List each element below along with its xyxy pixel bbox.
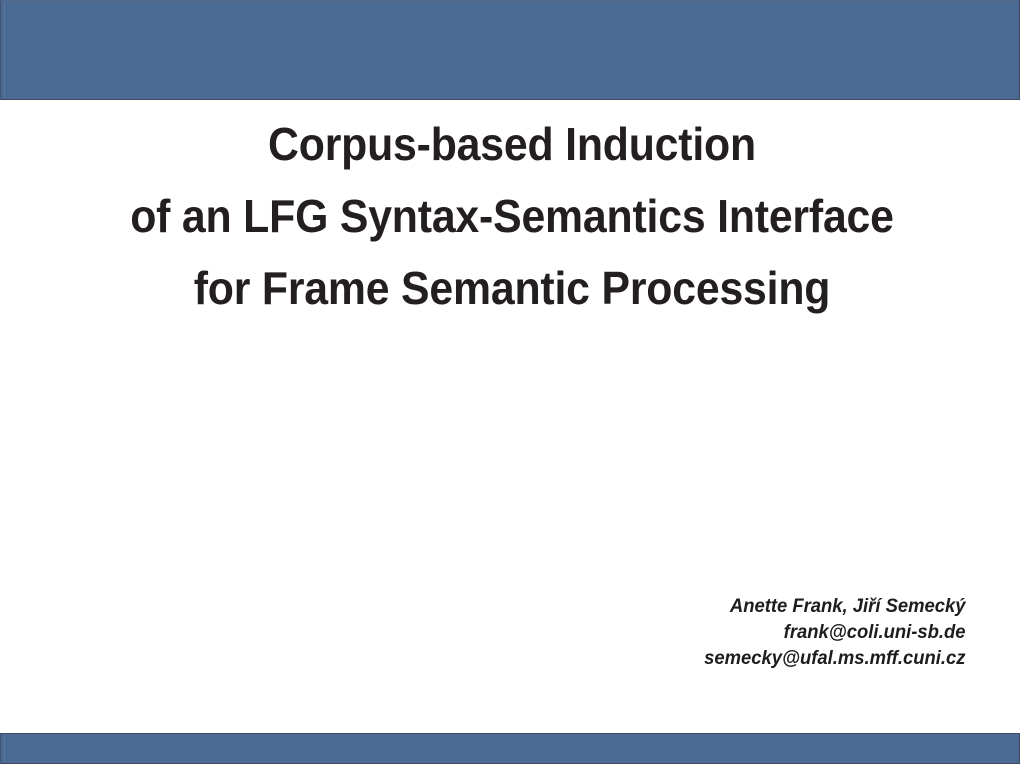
title-line-2: of an LFG Syntax-Semantics Interface [36, 180, 988, 252]
header-band [0, 0, 1020, 100]
slide-title: Corpus-based Induction of an LFG Syntax-… [0, 108, 1024, 324]
presentation-slide: Corpus-based Induction of an LFG Syntax-… [0, 0, 1024, 768]
author-email-1: frank@coli.uni-sb.de [705, 620, 966, 646]
title-line-3: for Frame Semantic Processing [36, 252, 988, 324]
title-line-1: Corpus-based Induction [36, 108, 988, 180]
author-names: Anette Frank, Jiří Semecký [705, 594, 966, 620]
footer-band [0, 733, 1020, 764]
author-contact-block: Anette Frank, Jiří Semecký frank@coli.un… [696, 594, 966, 672]
author-email-2: semecky@ufal.ms.mff.cuni.cz [705, 646, 966, 672]
